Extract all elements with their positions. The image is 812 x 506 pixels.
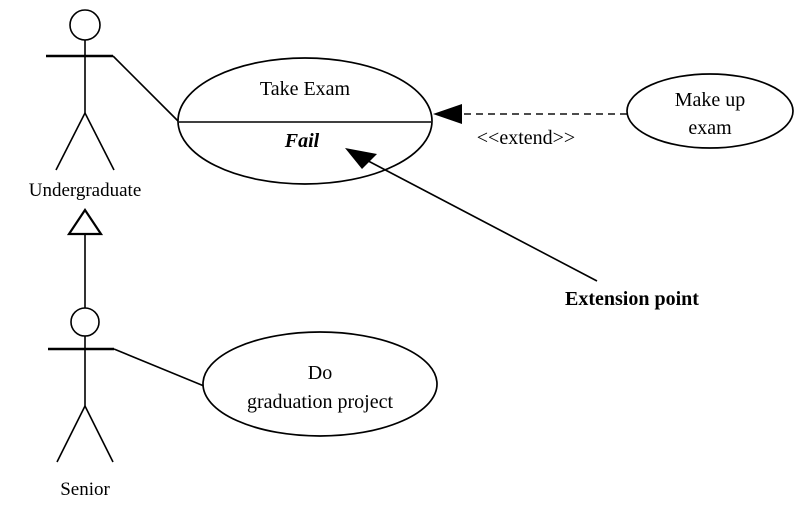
- association-senior-graduation-project[interactable]: [114, 349, 204, 386]
- usecase-extension-point-fail-label: Fail: [284, 130, 320, 152]
- actor-senior-label: Senior: [60, 479, 110, 500]
- use-case-diagram: Undergraduate Senior Take Exam Fail: [0, 0, 812, 506]
- generalization-senior-undergraduate[interactable]: [69, 210, 101, 308]
- actor-undergraduate-label: Undergraduate: [29, 180, 142, 201]
- usecase-ellipse: [178, 58, 432, 184]
- usecase-ellipse: [203, 332, 437, 436]
- actor-left-leg: [57, 406, 85, 462]
- extend-arrowhead-icon: [433, 104, 462, 124]
- usecase-do-graduation-project-label-line1: Do: [308, 362, 332, 384]
- extend-stereotype-label: <<extend>>: [477, 127, 575, 149]
- usecase-do-graduation-project[interactable]: Do graduation project: [203, 332, 437, 436]
- relationship-extend[interactable]: <<extend>>: [433, 104, 627, 149]
- actor-right-leg: [85, 406, 113, 462]
- actor-senior[interactable]: Senior: [48, 308, 114, 500]
- actor-head-icon: [70, 10, 100, 40]
- actor-right-leg: [85, 113, 114, 170]
- extension-point-leader-line: [353, 153, 597, 281]
- usecase-make-up-exam[interactable]: Make up exam: [627, 74, 793, 148]
- actor-undergraduate[interactable]: Undergraduate: [29, 10, 142, 201]
- usecase-take-exam[interactable]: Take Exam Fail: [178, 58, 432, 184]
- generalization-triangle-icon: [69, 210, 101, 234]
- actor-left-leg: [56, 113, 85, 170]
- extension-point-label: Extension point: [565, 288, 699, 310]
- usecase-make-up-exam-label-line1: Make up: [675, 89, 746, 111]
- usecase-make-up-exam-label-line2: exam: [688, 117, 732, 139]
- usecase-do-graduation-project-label-line2: graduation project: [247, 391, 393, 413]
- usecase-take-exam-label: Take Exam: [260, 78, 351, 100]
- association-undergraduate-take-exam[interactable]: [113, 56, 179, 122]
- diagram-canvas: Undergraduate Senior Take Exam Fail: [0, 0, 812, 506]
- annotation-extension-point[interactable]: Extension point: [345, 148, 699, 310]
- actor-head-icon: [71, 308, 99, 336]
